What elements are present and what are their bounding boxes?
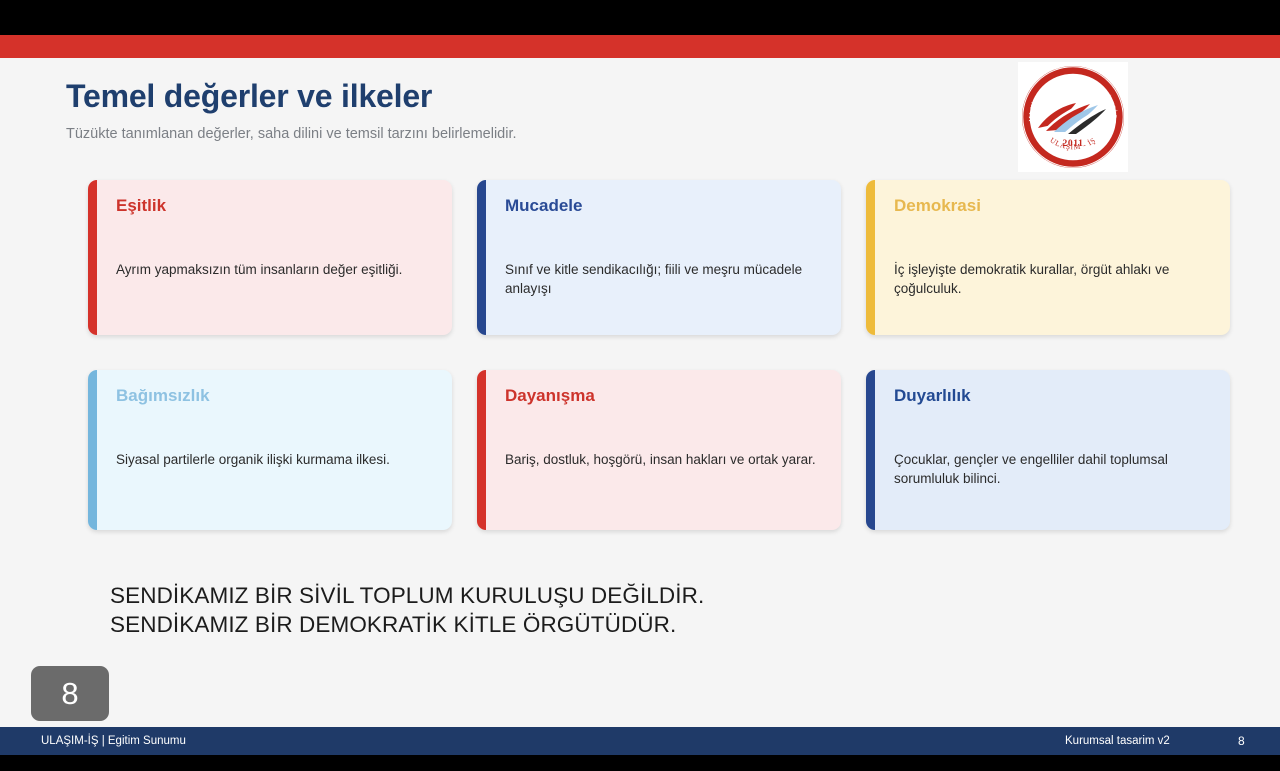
card-accent-bar bbox=[866, 370, 875, 530]
card-body: Bariş, dostluk, hoşgörü, insan hakları v… bbox=[505, 451, 821, 469]
top-accent-bar bbox=[0, 35, 1280, 58]
letterbox-top bbox=[0, 0, 1280, 35]
value-card-demokrasi[interactable]: Demokrasi İç işleyişte demokratik kurall… bbox=[866, 180, 1230, 335]
page-subtitle: Tüzükte tanımlanan değerler, saha dilini… bbox=[66, 125, 1066, 145]
value-card-mucadele[interactable]: Mucadele Sınıf ve kitle sendikacılığı; f… bbox=[477, 180, 841, 335]
ulasim-is-emblem-icon: ULAŞTIRMA HİZMET KOLU KAMU EMEKÇİLERİ SE… bbox=[1018, 62, 1128, 172]
footer-page-number: 8 bbox=[1238, 734, 1245, 748]
card-body: İç işleyişte demokratik kurallar, örgüt … bbox=[894, 261, 1210, 297]
card-title: Eşitlik bbox=[116, 196, 432, 216]
slide-canvas: Temel değerler ve ilkeler Tüzükte tanıml… bbox=[0, 58, 1280, 755]
closing-statement-line-2: SENDİKAMIZ BİR DEMOKRATİK KİTLE ÖRGÜTÜDÜ… bbox=[110, 611, 1010, 640]
card-body: Çocuklar, gençler ve engelliler dahil to… bbox=[894, 451, 1210, 487]
card-accent-bar bbox=[88, 370, 97, 530]
slide-number-badge: 8 bbox=[31, 666, 109, 721]
value-card-esitlik[interactable]: Eşitlik Ayrım yapmaksızın tüm insanların… bbox=[88, 180, 452, 335]
value-card-dayanisma[interactable]: Dayanışma Bariş, dostluk, hoşgörü, insan… bbox=[477, 370, 841, 530]
card-accent-bar bbox=[88, 180, 97, 335]
slide-footer: ULAŞIM-İŞ | Egitim Sunumu Kurumsal tasar… bbox=[0, 727, 1280, 755]
page-title: Temel değerler ve ilkeler bbox=[66, 77, 1066, 115]
card-title: Mucadele bbox=[505, 196, 821, 216]
card-body: Ayrım yapmaksızın tüm insanların değer e… bbox=[116, 261, 432, 279]
footer-brand-label: ULAŞIM-İŞ | Egitim Sunumu bbox=[41, 735, 186, 747]
card-accent-bar bbox=[477, 180, 486, 335]
organization-logo: ULAŞTIRMA HİZMET KOLU KAMU EMEKÇİLERİ SE… bbox=[1018, 62, 1128, 172]
value-card-bagimsizlik[interactable]: Bağımsızlık Siyasal partilerle organik i… bbox=[88, 370, 452, 530]
slide-header: Temel değerler ve ilkeler Tüzükte tanıml… bbox=[66, 77, 1066, 145]
letterbox-bottom bbox=[0, 755, 1280, 771]
card-body: Siyasal partilerle organik ilişki kurmam… bbox=[116, 451, 432, 469]
presentation-slide: Temel değerler ve ilkeler Tüzükte tanıml… bbox=[0, 0, 1280, 771]
card-title: Demokrasi bbox=[894, 196, 1210, 216]
card-accent-bar bbox=[866, 180, 875, 335]
footer-version-label: Kurumsal tasarim v2 bbox=[1065, 735, 1170, 747]
card-body: Sınıf ve kitle sendikacılığı; fiili ve m… bbox=[505, 261, 821, 297]
card-title: Bağımsızlık bbox=[116, 386, 432, 406]
card-title: Dayanışma bbox=[505, 386, 821, 406]
values-card-grid: Eşitlik Ayrım yapmaksızın tüm insanların… bbox=[88, 180, 1229, 525]
card-title: Duyarlılık bbox=[894, 386, 1210, 406]
closing-statement: SENDİKAMIZ BİR SİVİL TOPLUM KURULUŞU DEĞ… bbox=[110, 582, 1010, 639]
card-accent-bar bbox=[477, 370, 486, 530]
slide-number-badge-value: 8 bbox=[61, 678, 78, 709]
value-card-duyarlilik[interactable]: Duyarlılık Çocuklar, gençler ve engellil… bbox=[866, 370, 1230, 530]
closing-statement-line-1: SENDİKAMIZ BİR SİVİL TOPLUM KURULUŞU DEĞ… bbox=[110, 582, 1010, 611]
svg-text:2011: 2011 bbox=[1063, 139, 1084, 149]
